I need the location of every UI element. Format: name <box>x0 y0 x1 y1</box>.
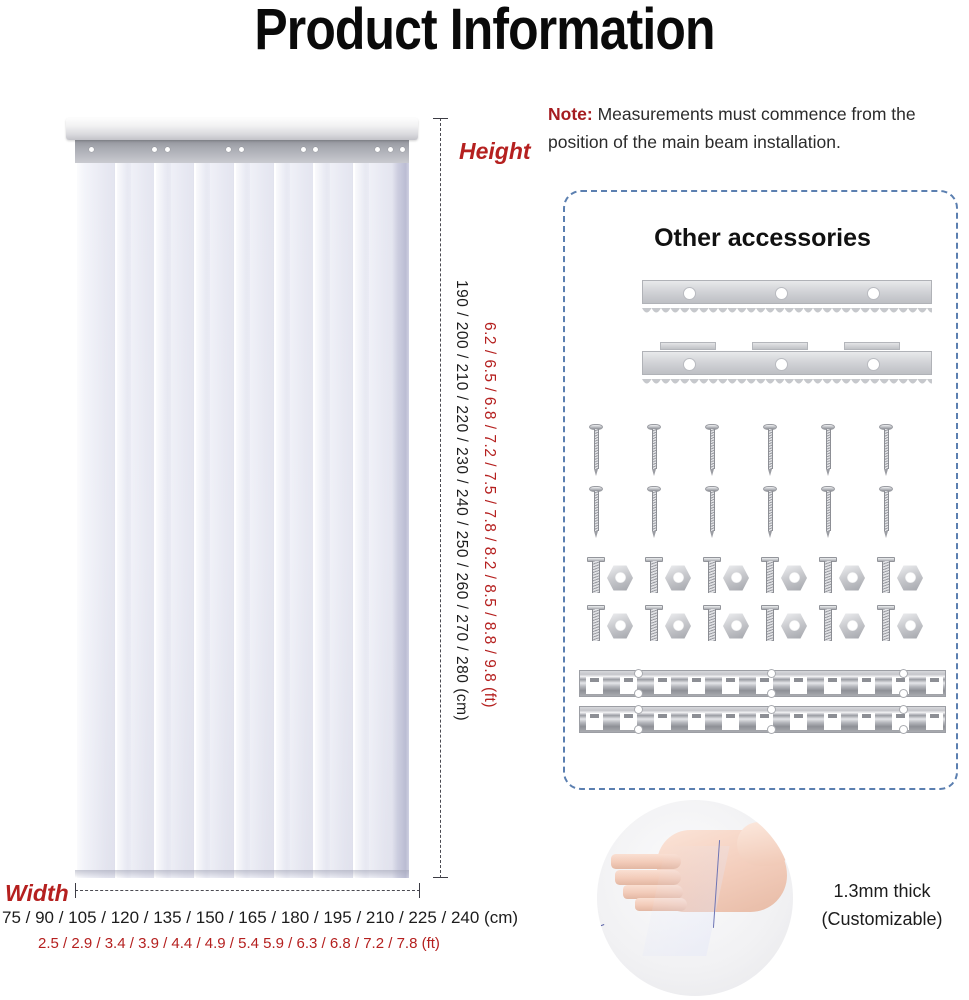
screw-tip <box>768 469 772 476</box>
mounting-plate-group <box>580 280 945 390</box>
bolt-unit-1 <box>585 557 635 599</box>
strip-edge-2 <box>115 163 117 878</box>
hex-nut-hole <box>847 572 858 583</box>
rail-hole-9 <box>388 147 393 152</box>
bolt-shaft <box>824 561 832 593</box>
rail-slot-lip <box>692 714 701 718</box>
screw-3 <box>705 424 719 476</box>
plate-hole-2-2 <box>775 358 788 371</box>
bolt-shaft <box>650 561 658 593</box>
screw-shaft <box>826 491 831 531</box>
width-values-ft: 2.5 / 2.9 / 3.4 / 3.9 / 4.4 / 4.9 / 5.4 … <box>38 935 508 952</box>
rail-slot-lip <box>930 714 939 718</box>
bolt-unit-9 <box>701 605 751 647</box>
plate-tab-2 <box>752 342 808 350</box>
rail-slot-lip <box>726 678 735 682</box>
bolt-shaft <box>592 609 600 641</box>
width-dimension-dashed-line <box>75 890 420 891</box>
strip-edge-4 <box>194 163 196 878</box>
rail-slot-lip <box>896 714 905 718</box>
thickness-customizable: (Customizable) <box>802 906 962 934</box>
note-text: Measurements must commence from the posi… <box>548 104 916 152</box>
rail-hole-1 <box>89 147 94 152</box>
height-label: Height <box>459 138 531 165</box>
height-dimension-cap-bottom <box>433 877 448 878</box>
screw-5 <box>821 424 835 476</box>
strip-edge-8 <box>353 163 355 878</box>
rail-slot-lip <box>930 678 939 682</box>
bolt-unit-5 <box>817 557 867 599</box>
screw-10 <box>763 486 777 538</box>
bolt-shaft <box>708 609 716 641</box>
screw-shaft <box>884 491 889 531</box>
page-title: Product Information <box>68 0 901 63</box>
mounting-plate-tabbed <box>642 342 932 382</box>
aluminum-rail-group <box>579 670 946 740</box>
plate-hole-1-3 <box>867 287 880 300</box>
screw-12 <box>879 486 893 538</box>
hex-nut-hole <box>673 620 684 631</box>
plate-hole-1-1 <box>683 287 696 300</box>
plate-hole-2-1 <box>683 358 696 371</box>
hex-nut-hole <box>615 620 626 631</box>
rail-hole-3 <box>165 147 170 152</box>
plate-tabs <box>642 342 932 351</box>
screw-shaft <box>884 429 889 469</box>
screw-11 <box>821 486 835 538</box>
bolt-shaft <box>592 561 600 593</box>
strip-overlap-8 <box>392 163 409 878</box>
rail-hole-top-2-1 <box>634 705 643 714</box>
rail-slot-lip <box>590 714 599 718</box>
plate-teeth-2 <box>642 375 932 384</box>
screw-7 <box>589 486 603 538</box>
screw-shaft <box>652 429 657 469</box>
screw-shaft <box>594 429 599 469</box>
screw-tip <box>826 531 830 538</box>
bolt-shaft <box>650 609 658 641</box>
rail-hole-bottom-2-1 <box>634 725 643 734</box>
screw-shaft <box>768 429 773 469</box>
curtain-strip-stack <box>75 163 409 878</box>
thickness-caption: 1.3mm thick (Customizable) <box>802 878 962 934</box>
rail-slot-lip <box>828 678 837 682</box>
bolt-unit-2 <box>643 557 693 599</box>
height-values-ft: 6.2 / 6.5 / 6.8 / 7.2 / 7.5 / 7.8 / 8.2 … <box>480 322 498 708</box>
screw-tip <box>594 531 598 538</box>
plate-teeth-1 <box>642 304 932 313</box>
height-dimension-line <box>436 118 446 878</box>
screw-shaft <box>652 491 657 531</box>
width-dimension-cap-left <box>75 883 76 898</box>
rail-slot-lip <box>658 678 667 682</box>
pvc-strip-curtain-illustration <box>66 118 418 878</box>
screw-tip <box>884 469 888 476</box>
plate-body-2 <box>642 351 932 375</box>
bolt-unit-12 <box>875 605 925 647</box>
hex-nut-hole <box>789 572 800 583</box>
rail-slot-lip <box>794 678 803 682</box>
rail-hole-bottom-1-3 <box>899 689 908 698</box>
bolt-unit-6 <box>875 557 925 599</box>
rail-hole-top-1-1 <box>634 669 643 678</box>
plate-tab-3 <box>844 342 900 350</box>
plate-body-1 <box>642 280 932 304</box>
rail-hole-5 <box>239 147 244 152</box>
rail-slot-lip <box>862 714 871 718</box>
rail-hole-bottom-2-2 <box>767 725 776 734</box>
hex-nut-hole <box>673 572 684 583</box>
screw-shaft <box>710 429 715 469</box>
screw-tip <box>652 469 656 476</box>
rail-hole-bottom-1-2 <box>767 689 776 698</box>
rail-hole-4 <box>226 147 231 152</box>
bolt-unit-7 <box>585 605 635 647</box>
rail-slot-lip <box>862 678 871 682</box>
hex-nut-hole <box>847 620 858 631</box>
rail-hole-2 <box>152 147 157 152</box>
screw-group <box>589 424 937 542</box>
rail-hole-8 <box>375 147 380 152</box>
rail-hole-bottom-2-3 <box>899 725 908 734</box>
rail-slot-lip <box>896 678 905 682</box>
hex-nut-hole <box>905 620 916 631</box>
plate-hole-1-2 <box>775 287 788 300</box>
screw-2 <box>647 424 661 476</box>
rail-slot-lip <box>828 714 837 718</box>
bolt-unit-3 <box>701 557 751 599</box>
note-label: Note: <box>548 104 593 124</box>
curtain-top-rail <box>66 118 418 140</box>
curtain-strip-8 <box>353 163 409 878</box>
hex-nut-hole <box>731 572 742 583</box>
bolt-shaft <box>882 609 890 641</box>
bolt-unit-8 <box>643 605 693 647</box>
screw-tip <box>652 531 656 538</box>
screw-8 <box>647 486 661 538</box>
strip-edge-7 <box>313 163 315 878</box>
screw-shaft <box>768 491 773 531</box>
curtain-header-band <box>75 138 409 163</box>
hex-nut-hole <box>905 572 916 583</box>
bolt-shaft <box>766 609 774 641</box>
height-dimension-dashed-line <box>440 118 441 878</box>
screw-tip <box>768 531 772 538</box>
screw-1 <box>589 424 603 476</box>
rail-hole-10 <box>400 147 405 152</box>
bolt-unit-10 <box>759 605 809 647</box>
thickness-value: 1.3mm thick <box>802 878 962 906</box>
rail-hole-top-2-3 <box>899 705 908 714</box>
hex-nut-hole <box>615 572 626 583</box>
rail-slot-lip <box>794 714 803 718</box>
screw-shaft <box>594 491 599 531</box>
rail-hole-top-1-2 <box>767 669 776 678</box>
rail-slot-lip <box>726 714 735 718</box>
screw-tip <box>710 531 714 538</box>
strip-edge-diagonal <box>597 924 604 969</box>
screw-shaft <box>710 491 715 531</box>
mounting-plate-plain <box>642 280 932 320</box>
width-dimension-line <box>75 886 420 896</box>
screw-tip <box>826 469 830 476</box>
height-values-cm: 190 / 200 / 210 / 220 / 230 / 240 / 250 … <box>452 280 470 721</box>
plate-tab-1 <box>660 342 716 350</box>
screw-shaft <box>826 429 831 469</box>
rail-slot-lip <box>760 714 769 718</box>
hex-nut-hole <box>789 620 800 631</box>
rail-slot-lip <box>658 714 667 718</box>
accessories-title: Other accessories <box>565 224 960 253</box>
screw-tip <box>884 531 888 538</box>
height-dimension-cap-top <box>433 118 448 119</box>
screw-tip <box>710 469 714 476</box>
bolt-shaft <box>708 561 716 593</box>
rail-slot-lip <box>590 678 599 682</box>
rail-slot-lip <box>760 678 769 682</box>
screw-tip <box>594 469 598 476</box>
screw-6 <box>879 424 893 476</box>
hex-nut-hole <box>731 620 742 631</box>
width-label: Width <box>5 880 69 907</box>
screw-9 <box>705 486 719 538</box>
rail-slot-lip <box>624 714 633 718</box>
bolt-unit-4 <box>759 557 809 599</box>
bolt-shaft <box>882 561 890 593</box>
rail-hole-top-2-2 <box>767 705 776 714</box>
strip-edge-5 <box>234 163 236 878</box>
rail-slot-lip <box>692 678 701 682</box>
bolt-shaft <box>766 561 774 593</box>
bolt-shaft <box>824 609 832 641</box>
strip-edge-1 <box>75 163 77 878</box>
hand-holding-strip-photo <box>597 800 793 996</box>
rail-hole-7 <box>313 147 318 152</box>
width-dimension-cap-right <box>419 883 420 898</box>
strip-edge-3 <box>154 163 156 878</box>
bolt-unit-11 <box>817 605 867 647</box>
rail-hole-6 <box>301 147 306 152</box>
rail-hole-bottom-1-1 <box>634 689 643 698</box>
strip-edge-6 <box>274 163 276 878</box>
rail-slot-lip <box>624 678 633 682</box>
curtain-bottom-shadow <box>75 870 409 878</box>
accessories-panel: Other accessories <box>563 190 958 790</box>
screw-4 <box>763 424 777 476</box>
width-values-cm: 75 / 90 / 105 / 120 / 135 / 150 / 165 / … <box>2 908 482 928</box>
pvc-strip-sample <box>652 840 772 980</box>
rail-hole-top-1-3 <box>899 669 908 678</box>
installation-note: Note: Measurements must commence from th… <box>548 100 966 157</box>
bolt-and-nut-group <box>585 557 941 657</box>
plate-hole-2-3 <box>867 358 880 371</box>
